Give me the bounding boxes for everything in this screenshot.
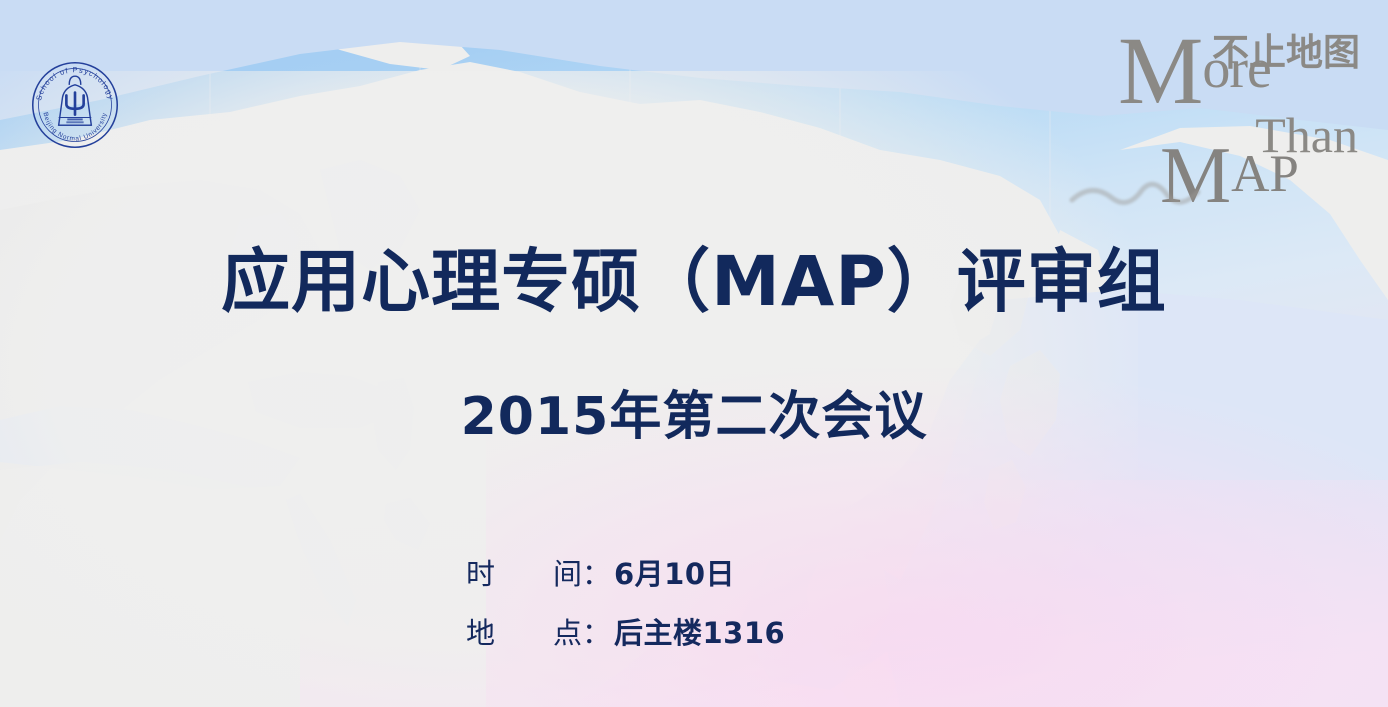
meeting-location-label: 地 点： [466,619,614,648]
seal-arc-bottom-text: Beijing Normal University [41,112,108,143]
meeting-location-value: 后主楼1316 [614,619,785,648]
more-than-map-logo: 不止地图 More Than MAP [1112,26,1364,208]
more-than-map-line-more: More [1118,32,1271,111]
landmass-africa [0,462,320,707]
meeting-details: 时 间： 6月10日 地 点： 后主楼1316 [466,560,785,678]
headline-block: 应用心理专硕（MAP）评审组 2015年第二次会议 [0,246,1388,446]
page-subtitle: 2015年第二次会议 [0,389,1388,446]
more-rest: ore [1202,38,1271,100]
meeting-time-row: 时 间： 6月10日 [466,560,785,589]
bnu-school-of-psychology-logo: School of Psychology Beijing Normal Univ… [27,57,123,153]
meeting-time-label: 时 间： [466,560,614,589]
bnu-seal-icon: School of Psychology Beijing Normal Univ… [27,57,123,153]
page-title: 应用心理专硕（MAP）评审组 [0,246,1388,319]
pink-haze-overlay [300,480,1388,707]
meeting-location-row: 地 点： 后主楼1316 [466,619,785,648]
more-capital-m: M [1118,17,1202,124]
map-rest: AP [1231,145,1299,203]
presentation-slide: School of Psychology Beijing Normal Univ… [0,0,1388,707]
bird-swoosh-icon [1068,174,1218,214]
meeting-time-value: 6月10日 [614,560,735,589]
